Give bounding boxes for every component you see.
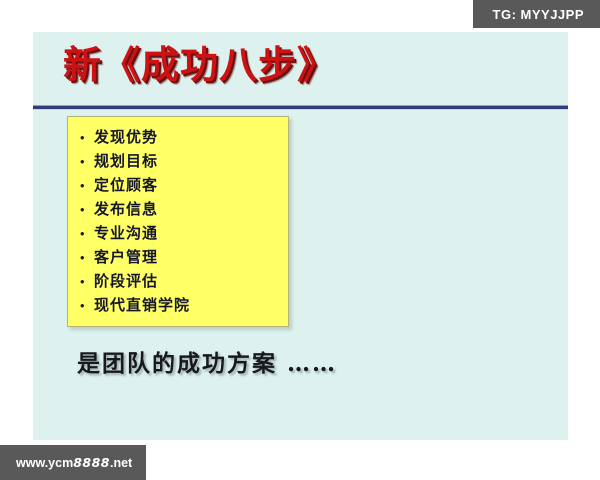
list-item-label: 现代直销学院 xyxy=(94,294,190,315)
bullet-dot-icon: • xyxy=(80,155,94,168)
bullet-dot-icon: • xyxy=(80,275,94,288)
list-item: • 客户管理 xyxy=(68,246,288,270)
slide-canvas: 新《成功八步》 • 发现优势 • 规划目标 • 定位顾客 • 发布信息 • 专业… xyxy=(33,32,568,440)
bullet-dot-icon: • xyxy=(80,131,94,144)
telegram-watermark-badge: TG: MYYJJPP xyxy=(473,0,600,28)
list-item-label: 阶段评估 xyxy=(94,270,158,291)
site-watermark-prefix: www.ycm xyxy=(16,456,73,470)
list-item: • 阶段评估 xyxy=(68,270,288,294)
list-item: • 规划目标 xyxy=(68,150,288,174)
list-item: • 发布信息 xyxy=(68,198,288,222)
list-item: • 定位顾客 xyxy=(68,174,288,198)
bullet-list-panel: • 发现优势 • 规划目标 • 定位顾客 • 发布信息 • 专业沟通 • 客户管… xyxy=(67,116,289,327)
site-watermark-digits: 8888 xyxy=(73,455,110,470)
bullet-dot-icon: • xyxy=(80,179,94,192)
list-item-label: 发现优势 xyxy=(94,126,158,147)
site-watermark-badge: www.ycm8888.net xyxy=(0,445,146,480)
list-item: • 发现优势 xyxy=(68,126,288,150)
bullet-dot-icon: • xyxy=(80,299,94,312)
title-divider xyxy=(33,105,568,110)
list-item-label: 专业沟通 xyxy=(94,222,158,243)
list-item-label: 发布信息 xyxy=(94,198,158,219)
bullet-dot-icon: • xyxy=(80,227,94,240)
list-item: • 专业沟通 xyxy=(68,222,288,246)
list-item-label: 规划目标 xyxy=(94,150,158,171)
list-item: • 现代直销学院 xyxy=(68,294,288,318)
page-title: 新《成功八步》 xyxy=(63,46,336,84)
bullet-dot-icon: • xyxy=(80,251,94,264)
bullet-dot-icon: • xyxy=(80,203,94,216)
site-watermark-suffix: .net xyxy=(110,456,132,470)
list-item-label: 客户管理 xyxy=(94,246,158,267)
list-item-label: 定位顾客 xyxy=(94,174,158,195)
closing-statement: 是团队的成功方案 …… xyxy=(77,344,337,378)
